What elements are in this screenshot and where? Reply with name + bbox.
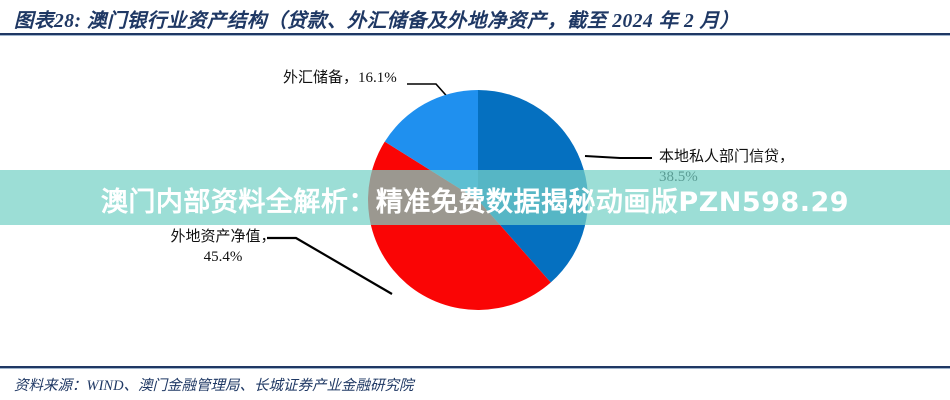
- pie-label-credit-line1: 本地私人部门信贷，: [659, 147, 794, 167]
- leader-line-credit: [585, 156, 652, 158]
- pie-label-credit: 本地私人部门信贷， 38.5%: [659, 147, 794, 188]
- page-title: 图表28: 澳门银行业资产结构（贷款、外汇储备及外地净资产，截至 2024 年 …: [14, 4, 740, 33]
- figure-panel: 图表28: 澳门银行业资产结构（贷款、外汇储备及外地净资产，截至 2024 年 …: [0, 0, 950, 400]
- pie-label-netforeign-line2: 45.4%: [148, 247, 298, 267]
- pie-chart: [0, 36, 950, 358]
- chart-plot-area: 外汇储备，16.1% 本地私人部门信贷， 38.5% 外地资产净值， 45.4%: [0, 36, 950, 358]
- pie-label-reserves: 外汇储备，16.1%: [283, 68, 397, 88]
- pie-label-reserves-text: 外汇储备，16.1%: [283, 70, 397, 86]
- pie-label-netforeign: 外地资产净值， 45.4%: [148, 227, 298, 268]
- pie-label-credit-line2: 38.5%: [659, 167, 794, 187]
- source-note: 资料来源：WIND、澳门金融管理局、长城证券产业金融研究院: [14, 374, 414, 395]
- pie-label-netforeign-line1: 外地资产净值，: [148, 227, 298, 247]
- figure-header: 图表28: 澳门银行业资产结构（贷款、外汇储备及外地净资产，截至 2024 年 …: [0, 0, 950, 36]
- footer-divider-secondary: [0, 368, 950, 369]
